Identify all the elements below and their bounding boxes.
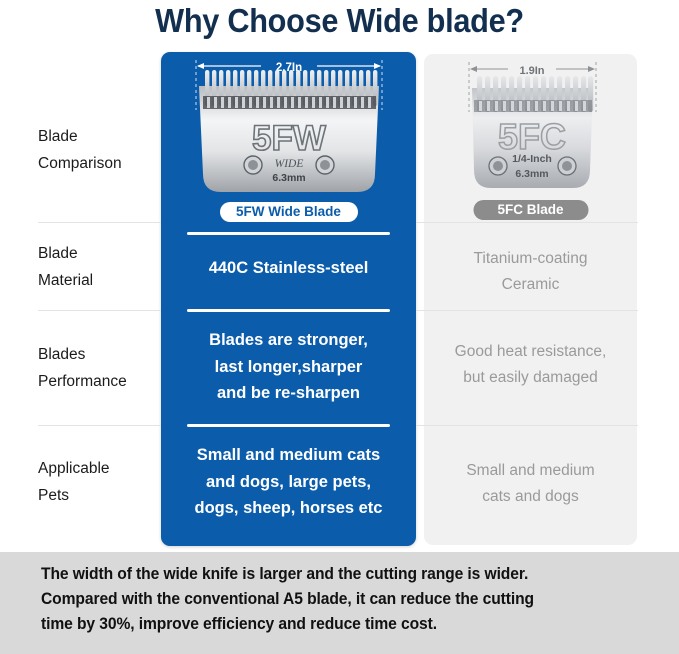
svg-text:1/4-Inch: 1/4-Inch [512,153,552,165]
standard-blade-performance: Good heat resistance, but easily damaged [436,339,625,390]
wide-pets-line-2: and dogs, large pets, [175,469,402,496]
wide-pets-line-1: Small and medium cats [175,442,402,469]
footer-text: The width of the wide knife is larger an… [41,562,628,636]
row-divider-1-right [416,222,638,223]
standard-material-line-1: Titanium-coating [436,246,625,272]
svg-text:WIDE: WIDE [275,158,304,170]
footer-band: The width of the wide knife is larger an… [0,552,679,654]
wide-performance-line-2: last longer,sharper [175,354,402,381]
standard-pets-line-2: cats and dogs [436,484,625,510]
standard-performance-line-2: but easily damaged [436,365,625,391]
svg-text:5FW: 5FW [252,119,326,158]
row-divider-3-right [416,425,638,426]
standard-blade-pets: Small and medium cats and dogs [436,458,625,509]
comparison-infographic: Why Choose Wide blade? [0,0,679,654]
row-label-column: Blade Comparison Blade Material Blades P… [0,52,161,552]
row-label-blades-performance: Blades Performance [38,342,163,395]
row-label-blade-material-line-1: Blade [38,241,163,268]
svg-text:6.3mm: 6.3mm [272,172,305,184]
standard-performance-line-1: Good heat resistance, [436,339,625,365]
row-label-applicable-pets-line-1: Applicable [38,456,163,483]
standard-pets-line-1: Small and medium [436,458,625,484]
blue-separator-1 [187,232,390,235]
footer-line-2: Compared with the conventional A5 blade,… [41,587,628,612]
row-label-blades-performance-line-2: Performance [38,369,163,396]
wide-blade-performance: Blades are stronger, last longer,sharper… [175,327,402,407]
page-title: Why Choose Wide blade? [24,2,655,40]
row-label-blade-comparison-line-1: Blade [38,124,163,151]
row-label-applicable-pets-line-2: Pets [38,483,163,510]
svg-text:6.3mm: 6.3mm [515,168,548,180]
blue-separator-3 [187,424,390,427]
wide-performance-line-1: Blades are stronger, [175,327,402,354]
row-divider-1-left [38,222,161,223]
standard-blade-pill: 5FC Blade [473,200,588,220]
wide-pets-line-3: dogs, sheep, horses etc [175,495,402,522]
row-divider-2-right [416,310,638,311]
row-label-blade-comparison-line-2: Comparison [38,151,163,178]
standard-blade-material: Titanium-coating Ceramic [436,246,625,297]
standard-material-line-2: Ceramic [436,272,625,298]
row-label-applicable-pets: Applicable Pets [38,456,163,509]
row-divider-3-left [38,425,161,426]
footer-line-1: The width of the wide knife is larger an… [41,562,628,587]
row-label-blade-material: Blade Material [38,241,163,294]
svg-text:1.9In: 1.9In [519,65,544,77]
row-label-blade-comparison: Blade Comparison [38,124,163,177]
standard-blade-column: 1.9In [424,54,637,545]
comparison-table: 2.7In [0,52,679,552]
wide-blade-pill: 5FW Wide Blade [220,202,358,222]
row-divider-2-left [38,310,161,311]
row-label-blades-performance-line-1: Blades [38,342,163,369]
footer-line-3: time by 30%, improve efficiency and redu… [41,612,628,637]
blue-separator-2 [187,309,390,312]
svg-text:5FC: 5FC [498,116,566,157]
wide-blade-material: 440C Stainless-steel [175,255,402,282]
wide-blade-pets: Small and medium cats and dogs, large pe… [175,442,402,522]
row-label-blade-material-line-2: Material [38,268,163,295]
wide-blade-column: 2.7In [161,52,416,546]
wide-performance-line-3: and be re-sharpen [175,380,402,407]
